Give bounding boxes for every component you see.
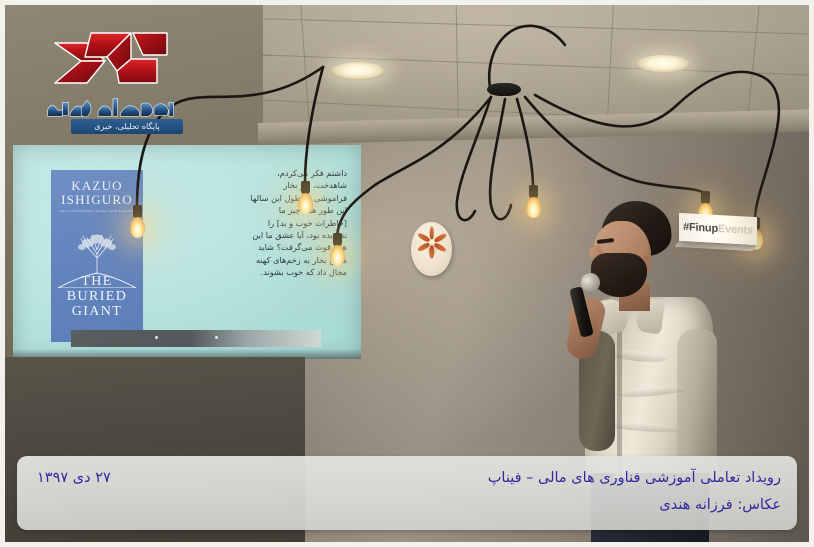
bank-o-sanat-logo-icon	[47, 23, 177, 95]
floral-wall-ornament	[411, 222, 452, 276]
book-cover-image: KAZUO ISHIGURO Winner of the Nobel Prize…	[51, 170, 143, 342]
ornament-petal	[429, 227, 434, 240]
brand-tagline-text: پایگاه تحلیلی، خبری	[94, 122, 159, 131]
event-title: رویداد تعاملی آموزشی فناوری های مالی – ف…	[488, 470, 781, 486]
slide-filmstrip	[71, 330, 321, 347]
recessed-ceiling-light	[330, 62, 386, 80]
book-author-name: KAZUO ISHIGURO	[57, 179, 137, 207]
recessed-ceiling-light	[635, 55, 691, 73]
presenter-far-arm	[677, 329, 717, 477]
caption-top-row: رویداد تعاملی آموزشی فناوری های مالی – ف…	[33, 463, 781, 493]
ornament-petal	[433, 233, 447, 243]
brand-logo: پایگاه تحلیلی، خبری	[33, 23, 193, 135]
event-date: ۲۷ دی ۱۳۹۷	[33, 470, 111, 486]
photograph: KAZUO ISHIGURO Winner of the Nobel Prize…	[5, 5, 809, 542]
shirt-placket	[617, 325, 622, 475]
caption-bar: رویداد تعاملی آموزشی فناوری های مالی – ف…	[17, 456, 797, 530]
slide-body-text: داشتم فکر می‌کردم، شاهدخت، اگر بخار فرام…	[161, 167, 347, 279]
photo-credit: عکاس: فرزانه هندی	[33, 497, 781, 513]
projection-screen: KAZUO ISHIGURO Winner of the Nobel Prize…	[13, 145, 361, 359]
photo-frame: KAZUO ISHIGURO Winner of the Nobel Prize…	[0, 0, 814, 547]
ornament-petal	[417, 233, 431, 243]
book-blurb-text: Winner of the Nobel Prize in Literature …	[57, 210, 137, 213]
brand-wordmark	[33, 93, 193, 121]
caption-content: رویداد تعاملی آموزشی فناوری های مالی – ف…	[17, 456, 797, 530]
brand-tagline-badge: پایگاه تحلیلی، خبری	[71, 119, 183, 134]
book-title-text: THE BURIED GIANT	[51, 274, 143, 319]
ornament-petal	[429, 246, 434, 259]
